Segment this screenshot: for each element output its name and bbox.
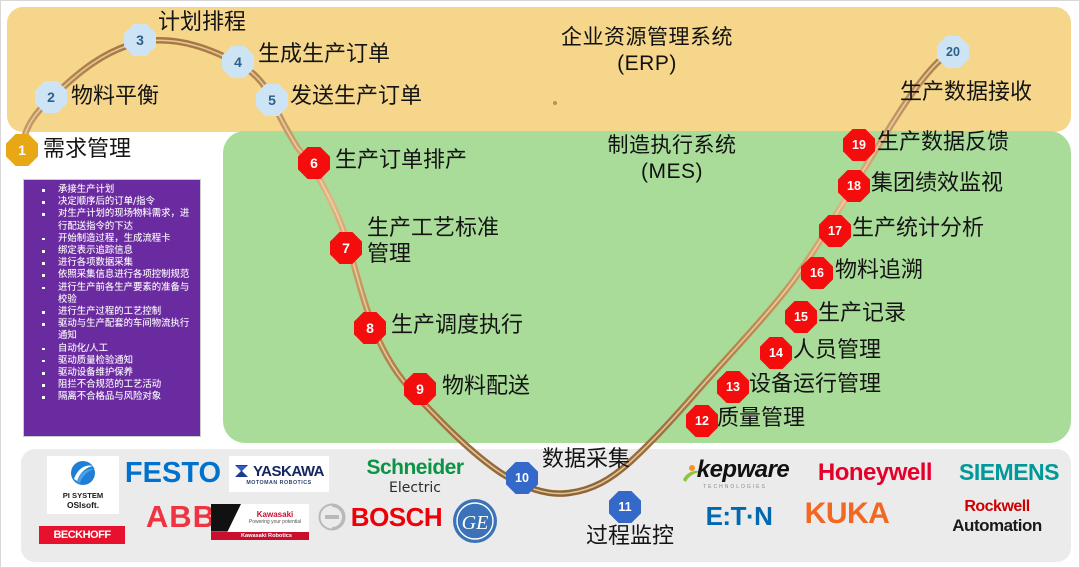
pi-system-icon (66, 460, 100, 490)
list-item: 驱动设备维护保养 (26, 367, 196, 379)
list-item: 绑定表示追踪信息 (26, 245, 196, 257)
logo-siemens-text: SIEMENS (959, 459, 1059, 486)
node-19-label: 生产数据反馈 (877, 129, 1009, 155)
logo-schneider-text: Schneider (366, 456, 463, 480)
diagram-canvas: 企业资源管理系统 (ERP) 制造执行系统 (MES) 1 需求管理 2 物料平… (0, 0, 1080, 568)
svg-text:GE: GE (462, 512, 489, 534)
logo-kuka-text: KUKA (805, 497, 890, 531)
list-item: 依照采集信息进行各项控制规范 (26, 269, 196, 281)
logo-yaskawa-text: YASKAWA (253, 463, 324, 480)
list-item: 进行生产前各生产要素的准备与校验 (26, 282, 196, 306)
logo-beckhoff: BECKHOFF (39, 526, 125, 544)
demand-management-detail-box: 承接生产计划 决定顺序后的订单/指令 对生产计划的现场物料需求，进行配送指令的下… (23, 179, 201, 437)
list-item: 决定顺序后的订单/指令 (26, 196, 196, 208)
logo-bosch: BOSCH (311, 501, 449, 533)
logo-kepware: kepware TECHNOLOGIES (675, 453, 795, 493)
node-11-label: 过程监控 (586, 523, 674, 549)
logo-kawasaki: Kawasaki Powering your potential Kawasak… (211, 504, 309, 540)
logo-kepware-text: kepware (697, 456, 790, 484)
logo-pi-system-osisoft: PI SYSTEM OSIsoft. (47, 456, 119, 514)
node-4-label: 生成生产订单 (258, 41, 390, 67)
logo-honeywell: Honeywell (811, 457, 939, 489)
list-item: 隔离不合格品与风险对象 (26, 391, 196, 403)
logo-general-electric: GE (451, 497, 499, 545)
logo-eaton-text: E:T·N (706, 501, 773, 532)
list-item: 进行各项数据采集 (26, 257, 196, 269)
node-20-label: 生产数据接收 (900, 79, 1032, 105)
node-2[interactable]: 2 (35, 81, 67, 113)
node-9-label: 物料配送 (442, 373, 530, 399)
node-7-label: 生产工艺标准 管理 (367, 215, 499, 268)
node-8-label: 生产调度执行 (391, 312, 523, 338)
list-item: 驱动与生产配套的车间物流执行通知 (26, 318, 196, 342)
list-item: 进行生产过程的工艺控制 (26, 306, 196, 318)
node-16-label: 物料追溯 (835, 257, 923, 283)
logo-rockwell-sub: Automation (952, 516, 1041, 536)
ge-monogram-icon: GE (452, 498, 498, 544)
node-1[interactable]: 1 (6, 134, 38, 166)
node-18-label: 集团绩效监视 (871, 170, 1003, 196)
logo-kuka: KUKA (791, 497, 903, 531)
logo-siemens: SIEMENS (949, 457, 1069, 487)
logo-yaskawa-sub: MOTOMAN ROBOTICS (246, 480, 311, 486)
node-13-label: 设备运行管理 (749, 371, 881, 397)
logo-festo-text: FESTO (125, 457, 221, 490)
list-item: 承接生产计划 (26, 184, 196, 196)
logo-yaskawa: YASKAWA MOTOMAN ROBOTICS (229, 456, 329, 492)
node-2-label: 物料平衡 (71, 83, 159, 109)
list-item: 自动化/人工 (26, 343, 196, 355)
logo-eaton: E:T·N (683, 501, 795, 531)
yaskawa-mark-icon (234, 464, 250, 478)
logo-kawasaki-sub: Kawasaki Robotics (211, 533, 292, 539)
node-12-label: 质量管理 (717, 405, 805, 431)
logo-schneider-sub: Electric (389, 480, 441, 496)
node-17-label: 生产统计分析 (852, 215, 984, 241)
kawasaki-mark-icon (211, 504, 241, 532)
list-item: 开始制造过程，生成流程卡 (26, 233, 196, 245)
logo-beckhoff-text: BECKHOFF (53, 529, 110, 541)
node-15-label: 生产记录 (818, 300, 906, 326)
bosch-mark-icon (318, 503, 346, 531)
list-item: 驱动质量检验通知 (26, 355, 196, 367)
node-1-label: 需求管理 (43, 136, 131, 162)
node-14-label: 人员管理 (793, 337, 881, 363)
logo-honeywell-text: Honeywell (818, 459, 932, 487)
node-5-label: 发送生产订单 (290, 83, 422, 109)
logo-schneider-electric: Schneider Electric (345, 456, 485, 496)
node-3-label: 计划排程 (158, 9, 246, 35)
logo-kepware-sub: TECHNOLOGIES (703, 484, 767, 490)
logo-bosch-text: BOSCH (351, 502, 442, 533)
logo-kawasaki-text: Kawasaki (241, 510, 309, 519)
node-10-label: 数据采集 (542, 446, 630, 472)
list-item: 阻拦不合规范的工艺活动 (26, 379, 196, 391)
node-4[interactable]: 4 (222, 46, 254, 78)
logo-pi-system-line2: OSIsoft. (67, 500, 99, 510)
logo-rockwell-automation: Rockwell Automation (927, 499, 1067, 535)
node-6-label: 生产订单排产 (335, 147, 467, 173)
logo-rockwell-text: Rockwell (964, 498, 1029, 516)
logo-festo: FESTO (117, 456, 229, 490)
list-item: 对生产计划的现场物料需求，进行配送指令的下达 (26, 208, 196, 232)
logo-abb-text: ABB (146, 499, 216, 535)
logo-pi-system-line1: PI SYSTEM (63, 491, 104, 500)
node-3[interactable]: 3 (124, 24, 156, 56)
detail-list: 承接生产计划 决定顺序后的订单/指令 对生产计划的现场物料需求，进行配送指令的下… (26, 184, 196, 404)
